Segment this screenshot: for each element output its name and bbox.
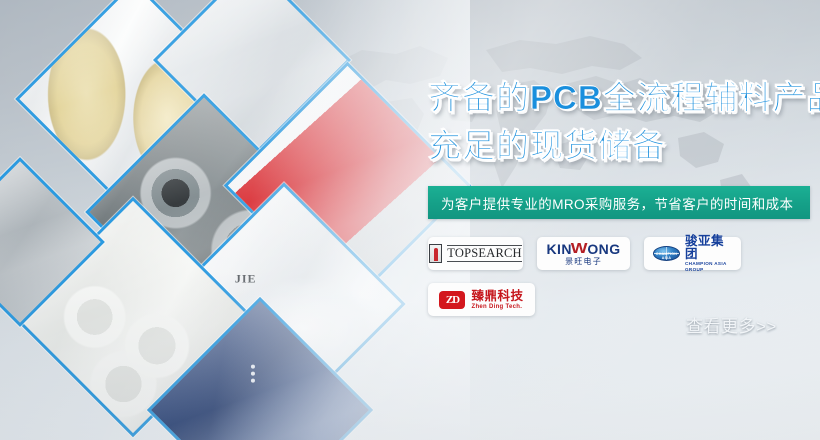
banner-content: 齐备的PCB全流程辅料产品、 充足的现货储备 为客户提供专业的MRO采购服务，节… — [428, 74, 820, 316]
zhen-ding-label-cn: 臻鼎科技 — [471, 289, 523, 303]
headline-line-2: 充足的现货储备 — [428, 122, 820, 170]
kinwong-label-head: KIN — [547, 242, 572, 256]
champion-asia-globe-icon: CHAMPION ASIA — [653, 246, 680, 261]
collage-fade-overlay — [150, 0, 470, 440]
subtitle-bar: 为客户提供专业的MRO采购服务，节省客户的时间和成本 — [428, 186, 810, 219]
zhen-ding-mark-icon: ZD — [439, 291, 465, 309]
kinwong-label-mid: W — [571, 242, 588, 256]
champion-asia-label-en: CHAMPION ASIA GROUP — [685, 261, 732, 273]
topsearch-label: TOPSEARCH — [447, 245, 522, 262]
kinwong-label-tail: ONG — [587, 242, 620, 256]
partner-logo-topsearch[interactable]: TOPSEARCH — [428, 237, 523, 270]
zhen-ding-label-en: Zhen Ding Tech. — [471, 303, 523, 311]
champion-asia-label-cn: 骏亚集团 — [685, 235, 732, 261]
headline: 齐备的PCB全流程辅料产品、 充足的现货储备 — [428, 74, 820, 170]
collage-tile-white-bag — [0, 157, 105, 327]
partner-logo-kinwong[interactable]: KINWONG 景旺电子 — [537, 237, 630, 270]
product-photo-collage: JIE — [0, 0, 430, 440]
blue-board-dots-icon — [246, 362, 255, 386]
collage-tile-brown-rolls — [153, 0, 351, 159]
zhen-ding-mark-text: ZD — [446, 294, 459, 306]
view-more-link[interactable]: 查看更多>> — [686, 312, 777, 337]
collage-tile-tape-rolls — [15, 0, 253, 218]
kinwong-wordmark-icon: KINWONG — [547, 242, 621, 256]
partner-logo-list: TOPSEARCH KINWONG 景旺电子 CHAMPION ASIA 骏亚集… — [428, 237, 788, 316]
collage-tile-blue-board — [147, 297, 373, 440]
champion-asia-globe-label: CHAMPION ASIA — [654, 252, 679, 260]
topsearch-mark-icon — [429, 244, 442, 263]
kinwong-label-cn: 景旺电子 — [565, 257, 602, 266]
film-watermark: JIE — [234, 272, 256, 284]
promo-banner: JIE 齐备的PCB全流程辅料产品、 充足的现货储备 为客户提供专业的MRO采购 — [0, 0, 820, 440]
subtitle-text: 为客户提供专业的MRO采购服务，节省客户的时间和成本 — [441, 193, 793, 213]
partner-logo-zhen-ding[interactable]: ZD 臻鼎科技 Zhen Ding Tech. — [428, 283, 535, 316]
partner-logo-champion-asia[interactable]: CHAMPION ASIA 骏亚集团 CHAMPION ASIA GROUP — [644, 237, 741, 270]
collage-tile-grinding-rolls — [85, 93, 323, 331]
collage-tile-white-tubes — [13, 197, 253, 437]
headline-line-1: 齐备的PCB全流程辅料产品、 — [428, 79, 820, 116]
collage-tile-protective-film: JIE — [162, 182, 405, 425]
